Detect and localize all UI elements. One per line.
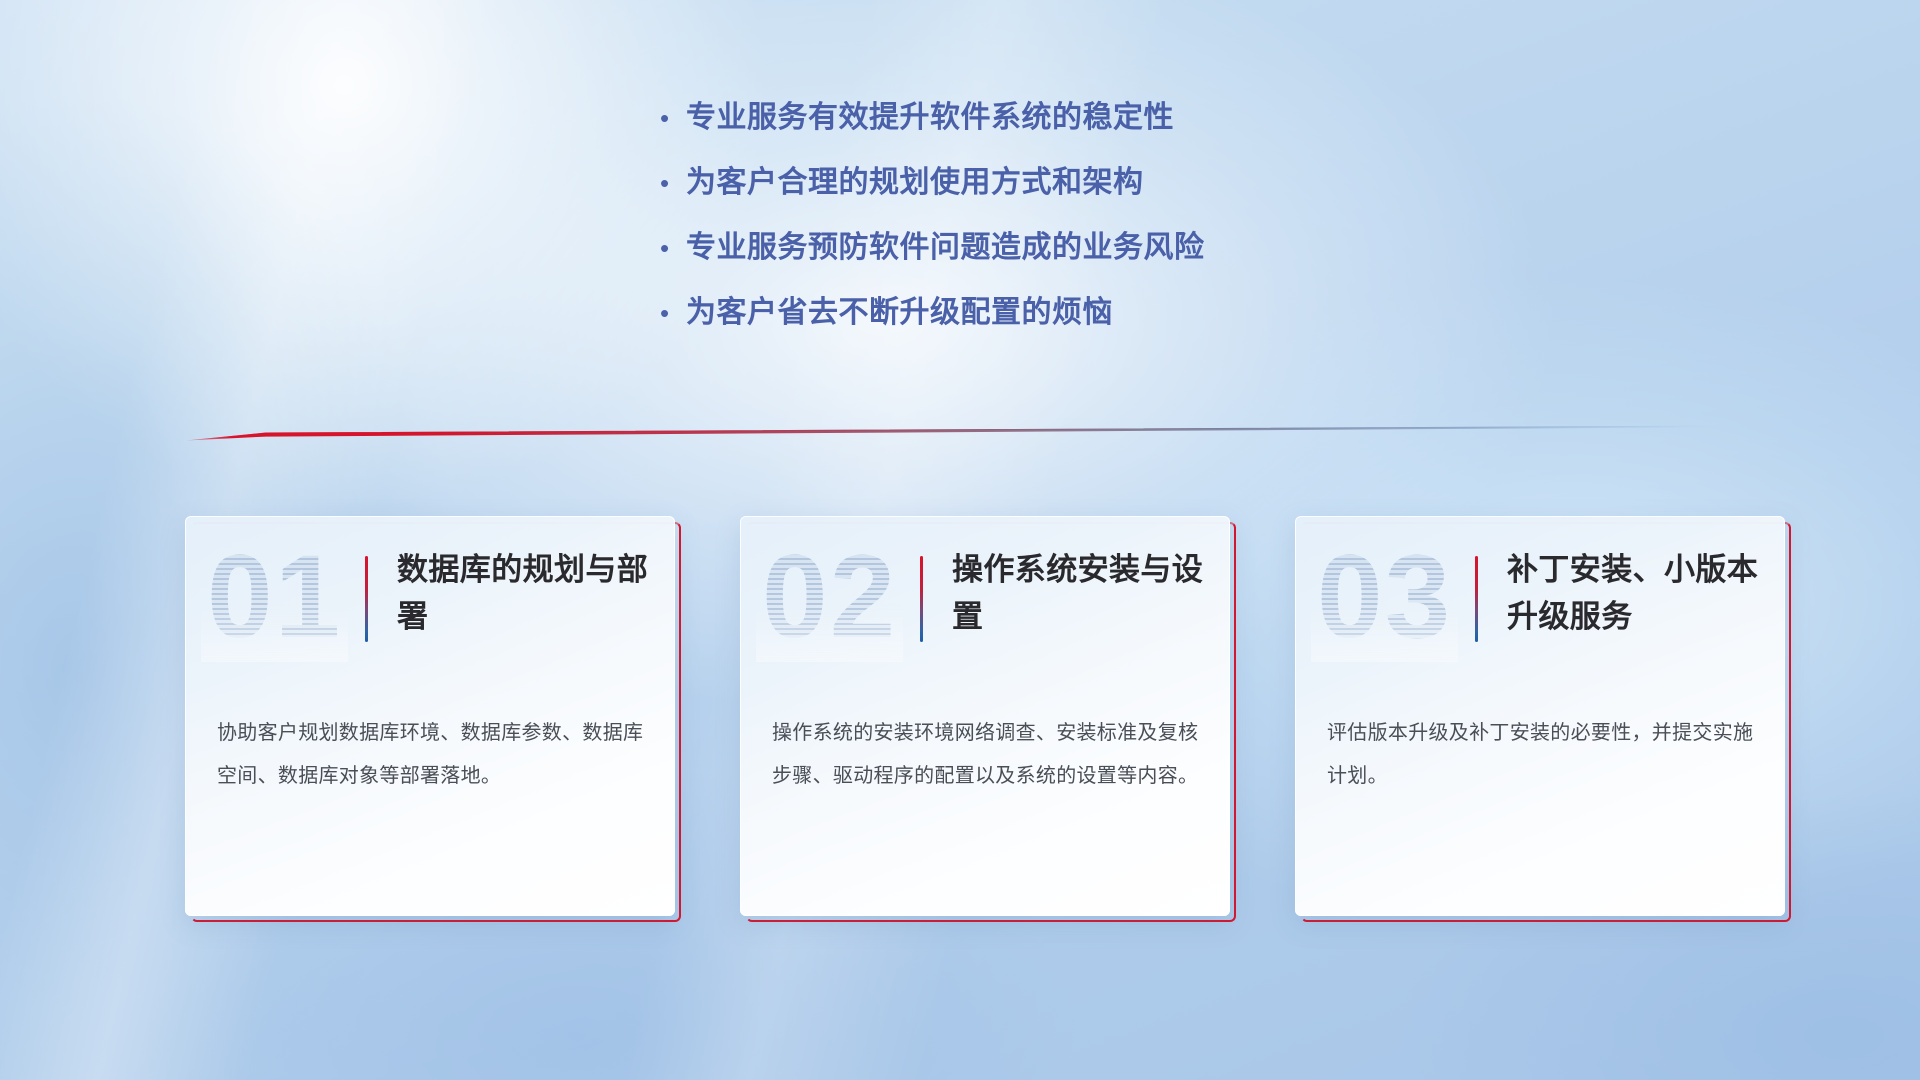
card-accent-bar xyxy=(920,556,923,642)
bullet-dot-icon: • xyxy=(660,300,686,326)
bullet-dot-icon: • xyxy=(660,105,686,131)
card-body-text: 协助客户规划数据库环境、数据库参数、数据库空间、数据库对象等部署落地。 xyxy=(217,712,649,798)
list-item: • 专业服务有效提升软件系统的稳定性 xyxy=(660,103,1520,168)
card-accent-bar xyxy=(1475,556,1478,642)
card-body-text: 操作系统的安装环境网络调查、安装标准及复核步骤、驱动程序的配置以及系统的设置等内… xyxy=(772,712,1204,798)
service-card[interactable]: 02 操作系统安装与设置 操作系统的安装环境网络调查、安装标准及复核步骤、驱动程… xyxy=(740,516,1230,916)
list-item: • 为客户省去不断升级配置的烦恼 xyxy=(660,298,1520,363)
card-header: 02 操作系统安装与设置 xyxy=(740,516,1230,701)
card-accent-bar xyxy=(365,556,368,642)
card-number-watermark: 01 xyxy=(207,538,342,656)
card-header: 01 数据库的规划与部署 xyxy=(185,516,675,701)
card-title: 数据库的规划与部署 xyxy=(397,546,657,640)
benefits-bullet-list: • 专业服务有效提升软件系统的稳定性 • 为客户合理的规划使用方式和架构 • 专… xyxy=(660,103,1520,363)
section-divider xyxy=(186,424,1720,442)
bullet-text: 专业服务预防软件问题造成的业务风险 xyxy=(686,233,1205,263)
list-item: • 为客户合理的规划使用方式和架构 xyxy=(660,168,1520,233)
card-panel: 03 补丁安装、小版本升级服务 评估版本升级及补丁安装的必要性，并提交实施计划。 xyxy=(1295,516,1785,916)
card-header: 03 补丁安装、小版本升级服务 xyxy=(1295,516,1785,701)
bullet-dot-icon: • xyxy=(660,170,686,196)
card-panel: 01 数据库的规划与部署 协助客户规划数据库环境、数据库参数、数据库空间、数据库… xyxy=(185,516,675,916)
card-title: 补丁安装、小版本升级服务 xyxy=(1507,546,1767,640)
card-number-watermark: 02 xyxy=(762,538,897,656)
service-card[interactable]: 03 补丁安装、小版本升级服务 评估版本升级及补丁安装的必要性，并提交实施计划。 xyxy=(1295,516,1785,916)
slide-stage: • 专业服务有效提升软件系统的稳定性 • 为客户合理的规划使用方式和架构 • 专… xyxy=(0,0,1920,1080)
bullet-text: 专业服务有效提升软件系统的稳定性 xyxy=(686,103,1174,133)
card-number-watermark: 03 xyxy=(1317,538,1452,656)
bullet-dot-icon: • xyxy=(660,235,686,261)
service-card[interactable]: 01 数据库的规划与部署 协助客户规划数据库环境、数据库参数、数据库空间、数据库… xyxy=(185,516,675,916)
list-item: • 专业服务预防软件问题造成的业务风险 xyxy=(660,233,1520,298)
service-card-row: 01 数据库的规划与部署 协助客户规划数据库环境、数据库参数、数据库空间、数据库… xyxy=(185,516,1785,916)
bullet-text: 为客户省去不断升级配置的烦恼 xyxy=(686,298,1113,328)
card-panel: 02 操作系统安装与设置 操作系统的安装环境网络调查、安装标准及复核步骤、驱动程… xyxy=(740,516,1230,916)
card-title: 操作系统安装与设置 xyxy=(952,546,1212,640)
card-body-text: 评估版本升级及补丁安装的必要性，并提交实施计划。 xyxy=(1327,712,1759,798)
divider-shape-icon xyxy=(186,424,1720,442)
bullet-text: 为客户合理的规划使用方式和架构 xyxy=(686,168,1144,198)
